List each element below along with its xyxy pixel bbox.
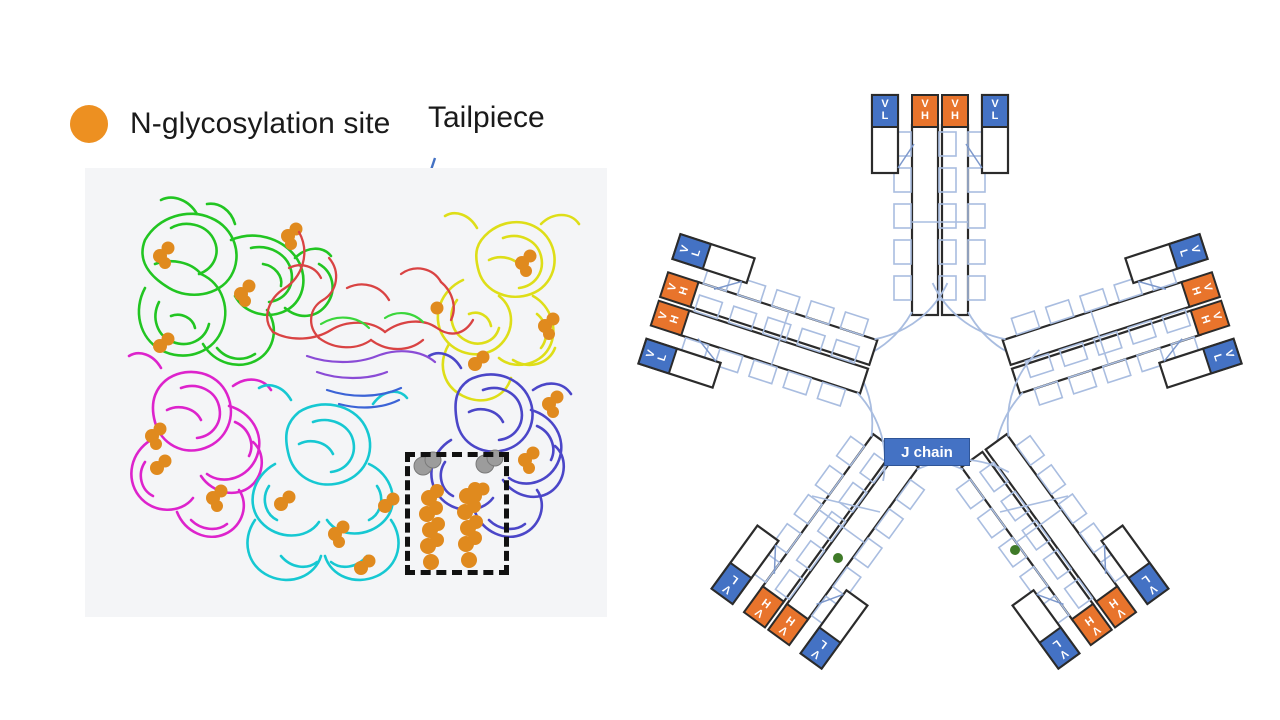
subunit-yellow — [438, 213, 579, 400]
glycan-cyan — [274, 491, 400, 576]
n-glycosylation-label: N-glycosylation site — [130, 107, 390, 141]
pentamer-schematic: V H V H V L — [620, 60, 1280, 680]
monomer-lower-left — [682, 350, 1008, 680]
j-chain-red — [267, 232, 473, 349]
subunit-cyan — [247, 385, 407, 580]
ribbon-structure-panel — [85, 168, 607, 617]
n-glycosylation-dot-icon — [70, 105, 108, 143]
glycan-magenta — [145, 423, 228, 513]
glycan-yellow — [431, 250, 560, 372]
monomer-upper-right — [933, 200, 1253, 481]
tailpiece-label: Tailpiece — [428, 101, 545, 135]
tailpiece-highlight-box — [405, 452, 509, 575]
monomer-lower-right — [871, 350, 1197, 680]
j-chain-label: J chain — [884, 438, 970, 466]
legend: N-glycosylation site — [70, 100, 390, 148]
figure-root: N-glycosylation site Tailpiece — [0, 0, 1280, 720]
central-loops-purple — [307, 351, 435, 378]
